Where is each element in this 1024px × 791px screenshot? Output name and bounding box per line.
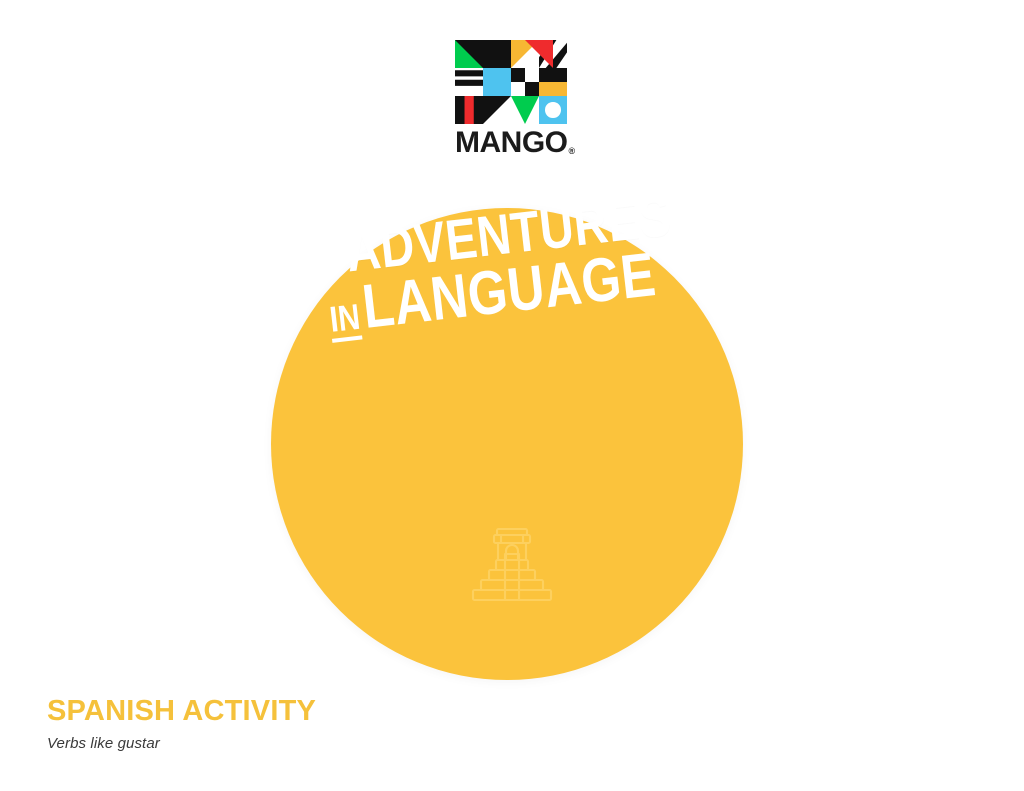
logo-tile: [455, 68, 483, 96]
logo-tile: [483, 68, 511, 96]
mayan-pyramid-icon: [470, 524, 554, 604]
logo-tile: [539, 68, 567, 96]
activity-subtitle: Verbs like gustar: [47, 735, 316, 752]
logo-tile: [483, 40, 511, 68]
badge-title-in-word: IN: [328, 300, 362, 342]
logo-tile: [539, 96, 567, 124]
logo-tile: [511, 68, 539, 96]
logo-tile: [483, 96, 511, 124]
logo-tile: [455, 40, 483, 68]
brand-logo: MANGO®: [455, 40, 567, 162]
footer-caption: SPANISH ACTIVITY Verbs like gustar: [47, 696, 316, 752]
brand-wordmark-text: MANGO: [455, 126, 568, 159]
trademark-icon: ®: [569, 146, 575, 156]
activity-title: SPANISH ACTIVITY: [47, 696, 316, 728]
logo-tile: [525, 40, 553, 68]
logo-tile: [511, 96, 539, 124]
logo-tile: [455, 96, 483, 124]
brand-wordmark: MANGO®: [455, 128, 567, 158]
mango-mosaic-m-logo-icon: [455, 40, 567, 126]
